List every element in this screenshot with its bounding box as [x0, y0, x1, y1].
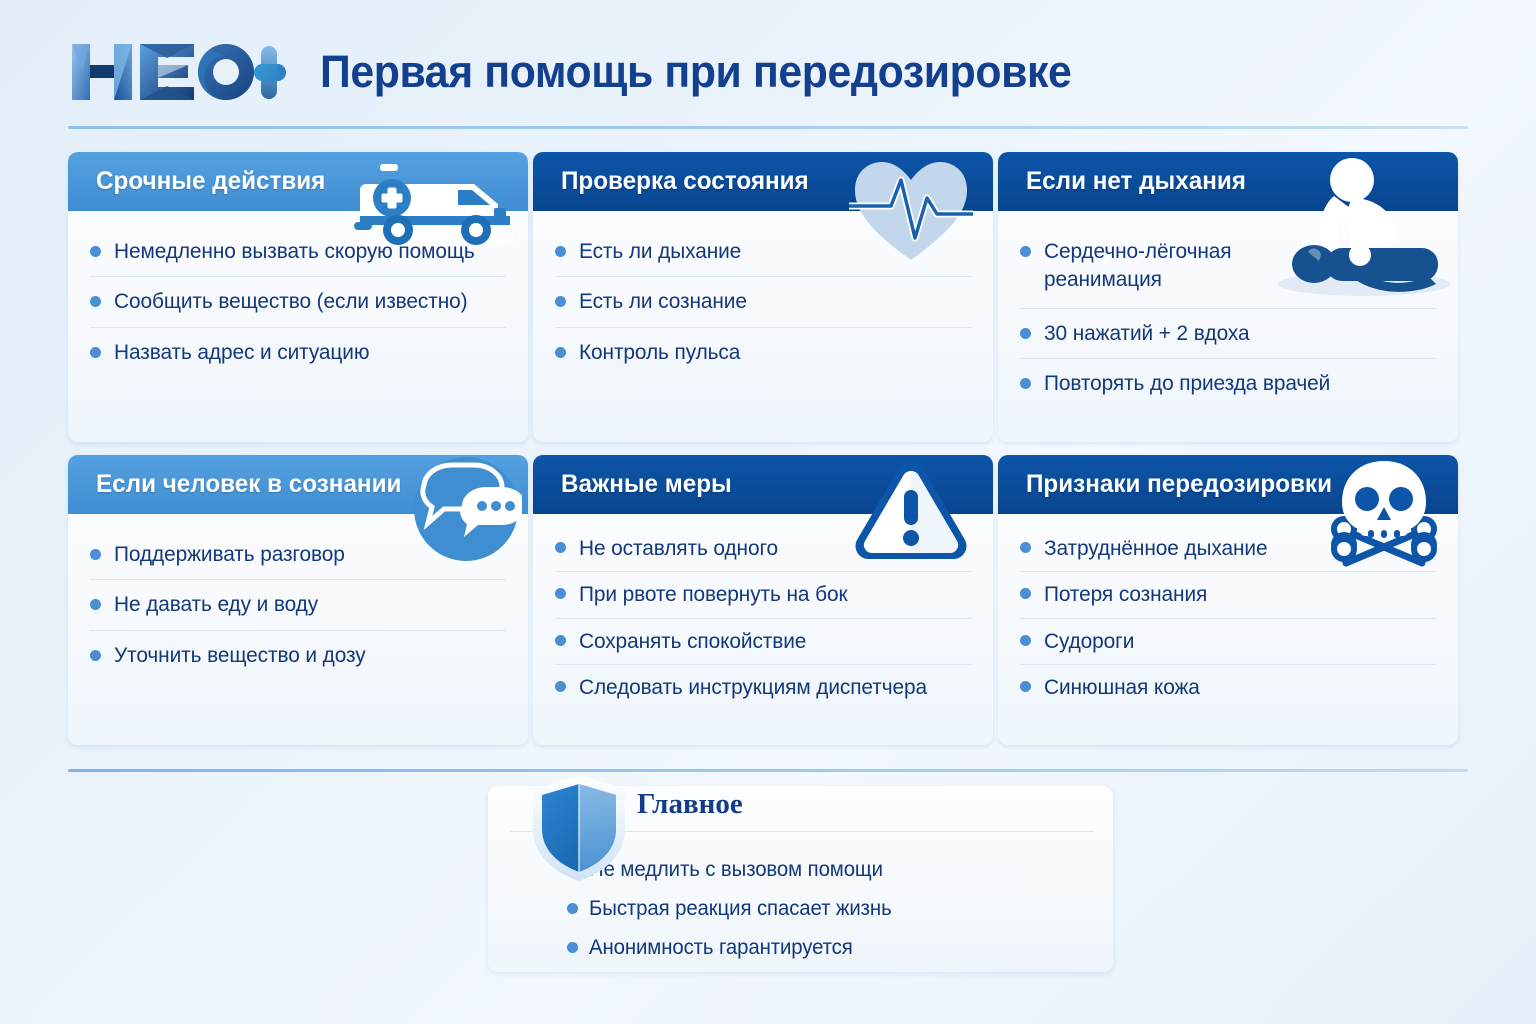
list-item[interactable]: Есть ли дыхание — [555, 227, 971, 277]
list-item[interactable]: Есть ли сознание — [555, 277, 971, 327]
card-no-breathing[interactable]: Если нет дыхания — [998, 152, 1458, 442]
card-header: Признаки передозировки — [998, 455, 1458, 514]
list-item-label: Анонимность гарантируется — [589, 936, 853, 960]
list-item[interactable]: Назвать адрес и ситуацию — [90, 328, 506, 377]
card-title: Срочные действия — [96, 167, 325, 196]
bullet-dot — [555, 542, 566, 553]
bullet-dot — [1020, 328, 1031, 339]
card-title: Признаки передозировки — [1026, 470, 1332, 499]
list-item-label: Назвать адрес и ситуацию — [114, 338, 369, 366]
page-title: Первая помощь при передозировке — [320, 46, 1071, 98]
list-item[interactable]: Не медлить с вызовом помощи — [567, 850, 1107, 889]
bullet-dot — [90, 599, 101, 610]
bullet-dot — [90, 549, 101, 560]
infographic-page: Первая помощь при передозировке Срочные … — [0, 0, 1536, 1024]
card-title: Если нет дыхания — [1026, 167, 1246, 196]
shield-icon — [530, 773, 628, 883]
list-item[interactable]: Уточнить вещество и дозу — [90, 631, 506, 680]
list-item[interactable]: Потеря сознания — [1020, 572, 1436, 618]
list-item[interactable]: Не оставлять одного — [555, 526, 971, 572]
list-item-label: Потеря сознания — [1044, 580, 1207, 608]
card-header: Важные меры — [533, 455, 993, 514]
list-item-label: Немедленно вызвать скорую помощь — [114, 237, 475, 265]
list-item-label: Быстрая реакция спасает жизнь — [589, 897, 892, 921]
list-item[interactable]: Следовать инструкциям диспетчера — [555, 665, 971, 710]
list-item[interactable]: Анонимность гарантируется — [567, 928, 1107, 967]
bullet-dot — [555, 246, 566, 257]
card-body: Не оставлять одного При рвоте повернуть … — [533, 514, 993, 721]
list-item[interactable]: Сообщить вещество (если известно) — [90, 277, 506, 327]
card-header: Проверка состояния — [533, 152, 993, 211]
list-item-label: Затруднённое дыхание — [1044, 534, 1267, 562]
list-item-label: Контроль пульса — [579, 338, 740, 366]
card-body: Затруднённое дыхание Потеря сознания Суд… — [998, 514, 1458, 721]
card-status-check[interactable]: Проверка состояния Есть ли дыхание — [533, 152, 993, 442]
bullet-dot — [1020, 378, 1031, 389]
list-item-label: Сердечно-лёгочная реанимация — [1044, 237, 1287, 294]
list-item-label: Есть ли дыхание — [579, 237, 741, 265]
bullet-dot — [1020, 588, 1031, 599]
list-item[interactable]: Повторять до приезда врачей — [1020, 359, 1436, 408]
card-urgent-actions[interactable]: Срочные действия — [68, 152, 528, 442]
list-item-label: Не оставлять одного — [579, 534, 778, 562]
card-overdose-signs[interactable]: Признаки передозировки — [998, 455, 1458, 745]
list-item-label: Повторять до приезда врачей — [1044, 369, 1330, 397]
bullet-dot — [90, 296, 101, 307]
card-body: Есть ли дыхание Есть ли сознание Контрол… — [533, 211, 993, 387]
list-item-label: Уточнить вещество и дозу — [114, 641, 366, 669]
list-item[interactable]: Поддерживать разговор — [90, 530, 506, 580]
list-item[interactable]: Затруднённое дыхание — [1020, 526, 1436, 572]
card-title: Если человек в сознании — [96, 470, 401, 499]
bullet-dot — [1020, 635, 1031, 646]
bullet-dot — [1020, 542, 1031, 553]
logo-plus — [254, 46, 286, 99]
bullet-dot — [555, 681, 566, 692]
bullet-dot — [555, 588, 566, 599]
list-item[interactable]: Не давать еду и воду — [90, 580, 506, 630]
list-item[interactable]: Сердечно-лёгочная реанимация — [1020, 227, 1436, 309]
bullet-dot — [90, 246, 101, 257]
neo-plus-logo — [68, 38, 286, 106]
summary-title: Главное — [637, 788, 743, 821]
logo-letter-n — [72, 44, 132, 100]
list-item-label: Не медлить с вызовом помощи — [589, 858, 883, 882]
bullet-dot — [1020, 681, 1031, 692]
bullet-dot — [567, 942, 578, 953]
list-item[interactable]: Быстрая реакция спасает жизнь — [567, 889, 1107, 928]
header-divider — [68, 126, 1468, 129]
list-item[interactable]: Контроль пульса — [555, 328, 971, 377]
bullet-dot — [555, 347, 566, 358]
card-header: Срочные действия — [68, 152, 528, 211]
list-item-label: Поддерживать разговор — [114, 540, 345, 568]
bullet-dot — [555, 296, 566, 307]
list-item[interactable]: При рвоте повернуть на бок — [555, 572, 971, 618]
card-body: Сердечно-лёгочная реанимация 30 нажатий … — [998, 211, 1458, 419]
list-item[interactable]: Немедленно вызвать скорую помощь — [90, 227, 506, 277]
card-important-measures[interactable]: Важные меры Не оставлять одного — [533, 455, 993, 745]
page-header: Первая помощь при передозировке — [68, 22, 1468, 122]
list-item-label: Синюшная кожа — [1044, 673, 1200, 701]
list-item-label: Сохранять спокойствие — [579, 627, 806, 655]
list-item-label: Не давать еду и воду — [114, 590, 318, 618]
bullet-dot — [555, 635, 566, 646]
bullet-dot — [1020, 246, 1031, 257]
logo-letter-e — [140, 44, 194, 100]
list-item[interactable]: Сохранять спокойствие — [555, 619, 971, 665]
card-title: Проверка состояния — [561, 167, 809, 196]
list-item[interactable]: Синюшная кожа — [1020, 665, 1436, 710]
footer-divider — [68, 769, 1468, 772]
cards-grid: Срочные действия — [68, 152, 1468, 745]
logo-letter-o — [198, 44, 254, 100]
list-item-label: При рвоте повернуть на бок — [579, 580, 847, 608]
bullet-dot — [90, 650, 101, 661]
card-conscious-person[interactable]: Если человек в сознании Поддерживать р — [68, 455, 528, 745]
list-item[interactable]: 30 нажатий + 2 вдоха — [1020, 309, 1436, 359]
card-body: Поддерживать разговор Не давать еду и во… — [68, 514, 528, 690]
list-item-label: 30 нажатий + 2 вдоха — [1044, 319, 1249, 347]
list-item-label: Следовать инструкциям диспетчера — [579, 673, 927, 701]
list-item[interactable]: Судороги — [1020, 619, 1436, 665]
card-body: Немедленно вызвать скорую помощь Сообщит… — [68, 211, 528, 387]
list-item-label: Есть ли сознание — [579, 287, 747, 315]
list-item-label: Сообщить вещество (если известно) — [114, 287, 467, 315]
list-item-label: Судороги — [1044, 627, 1134, 655]
card-title: Важные меры — [561, 470, 732, 499]
summary-list: Не медлить с вызовом помощи Быстрая реак… — [567, 850, 1107, 967]
bullet-dot — [90, 347, 101, 358]
bullet-dot — [567, 903, 578, 914]
card-header: Если человек в сознании — [68, 455, 528, 514]
card-header: Если нет дыхания — [998, 152, 1458, 211]
